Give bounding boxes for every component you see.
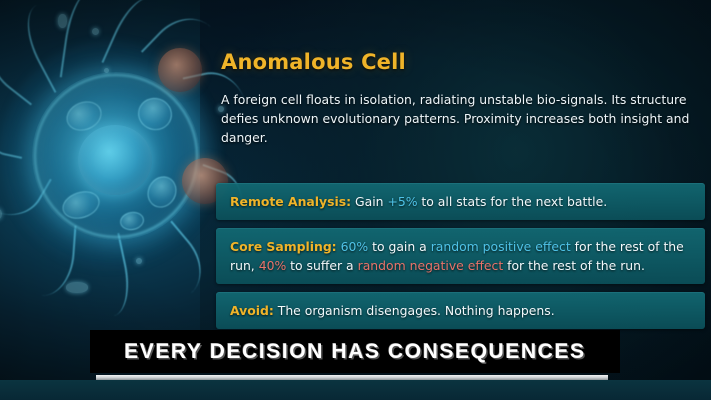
option-body: The organism disengages. Nothing happens… <box>274 303 555 318</box>
banner-text: EVERY DECISION HAS CONSEQUENCES <box>124 340 586 364</box>
option-text-bad: random negative effect <box>358 258 504 273</box>
option-label: Core Sampling: <box>230 239 337 254</box>
option-text-normal: to suffer a <box>286 258 357 273</box>
micro-particle <box>104 68 109 73</box>
amber-microbe <box>158 48 202 92</box>
option-text-bad: 40% <box>259 258 287 273</box>
option-text-normal: for the rest of the run. <box>503 258 645 273</box>
option-text-good: random positive effect <box>431 239 571 254</box>
option-text-normal: Gain <box>351 194 387 209</box>
cell-nucleus <box>78 125 152 195</box>
option-core-sampling[interactable]: Core Sampling: 60% to gain a random posi… <box>216 228 705 284</box>
consequences-banner: EVERY DECISION HAS CONSEQUENCES <box>90 330 620 373</box>
option-label: Remote Analysis: <box>230 194 351 209</box>
micro-particle <box>136 258 142 264</box>
event-description: A foreign cell floats in isolation, radi… <box>221 90 693 147</box>
option-text-good: 60% <box>341 239 369 254</box>
micro-particle <box>58 14 67 28</box>
option-body: Gain +5% to all stats for the next battl… <box>351 194 607 209</box>
options-list: Remote Analysis: Gain +5% to all stats f… <box>216 183 705 329</box>
option-text-good: +5% <box>387 194 417 209</box>
event-screen: Anomalous Cell A foreign cell floats in … <box>0 0 711 400</box>
option-text-normal: to all stats for the next battle. <box>417 194 607 209</box>
page-title: Anomalous Cell <box>221 50 406 74</box>
micro-particle <box>92 28 99 35</box>
option-text-normal: to gain a <box>368 239 431 254</box>
option-remote-analysis[interactable]: Remote Analysis: Gain +5% to all stats f… <box>216 183 705 220</box>
option-avoid[interactable]: Avoid: The organism disengages. Nothing … <box>216 292 705 329</box>
option-label: Avoid: <box>230 303 274 318</box>
bottom-fill <box>0 380 711 400</box>
option-text-normal: The organism disengages. Nothing happens… <box>274 303 555 318</box>
micro-particle <box>66 282 88 293</box>
